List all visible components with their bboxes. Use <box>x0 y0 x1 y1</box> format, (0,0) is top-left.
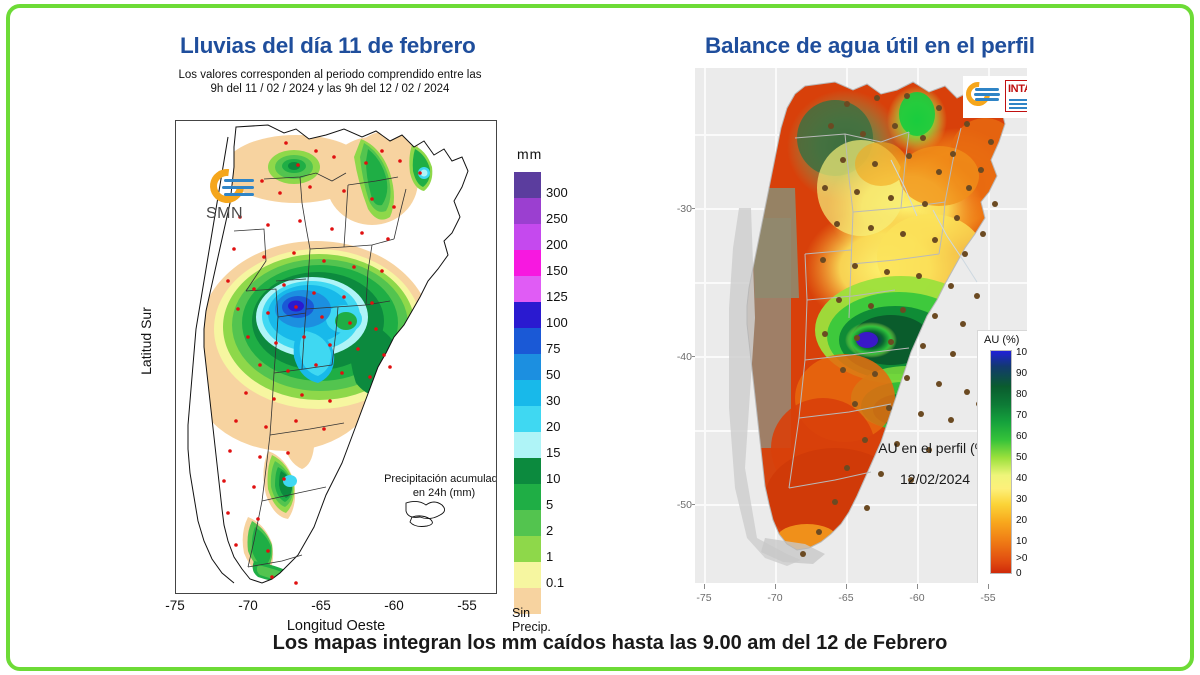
colorbar-tick: 125 <box>546 289 568 304</box>
colorbar-tick: 300 <box>546 185 568 200</box>
left-panel-title: Lluvias del día 11 de febrero <box>180 33 476 59</box>
colorbar-cell <box>514 380 541 406</box>
au-colorbar-tick: 80 <box>1016 389 1027 400</box>
inta-logo: INTA <box>1005 80 1027 112</box>
colorbar-tick: 15 <box>546 445 560 460</box>
au-colorbar-tick: >0 <box>1016 553 1027 564</box>
precip-note-line-2: en 24h (mm) <box>374 487 497 501</box>
right-map-tickmark <box>846 584 847 589</box>
right-map-tickmark <box>775 584 776 589</box>
right-map-ytick: -40 <box>666 351 692 363</box>
au-colorbar-tick: 90 <box>1016 368 1027 379</box>
precipitation-colorbar: mm 300 250 200 <box>510 146 602 616</box>
colorbar-cell <box>514 406 541 432</box>
water-balance-map-canvas: AU en el perfil (%) 12/02/2024 INTA <box>695 68 1027 583</box>
smn-wave-icon <box>224 193 254 196</box>
au-colorbar-tick: 20 <box>1016 515 1027 526</box>
logo-group: INTA FAUBA <box>963 76 1027 118</box>
smn-logo-text: SMN <box>206 205 243 223</box>
inta-line-icon <box>1009 107 1027 109</box>
right-map-xtick: -75 <box>687 592 721 604</box>
smn-logo <box>965 81 1001 113</box>
au-colorbar-tick: 70 <box>1016 410 1027 421</box>
colorbar-cell <box>514 510 541 536</box>
left-map-xtick: -75 <box>155 598 195 613</box>
colorbar-cell <box>514 198 541 224</box>
smn-logo: SMN <box>204 169 274 227</box>
colorbar-cell <box>514 458 541 484</box>
colorbar-cell <box>514 328 541 354</box>
colorbar-tick: 150 <box>546 263 568 278</box>
smn-wave-icon <box>975 88 999 91</box>
colorbar-tick: 10 <box>546 471 560 486</box>
colorbar-tick: 0.1 <box>546 575 564 590</box>
right-map-ytick: -30 <box>666 203 692 215</box>
au-colorbar-tick: 40 <box>1016 473 1027 484</box>
no-precip-label-line-1: Sin <box>512 606 530 620</box>
right-map-xtick: -65 <box>829 592 863 604</box>
right-panel-title: Balance de agua útil en el perfil <box>705 33 1035 59</box>
right-map-xtick: -70 <box>758 592 792 604</box>
au-colorbar-tick: 100 <box>1016 347 1027 358</box>
right-map-ytick: -50 <box>666 499 692 511</box>
colorbar-tick: 200 <box>546 237 568 252</box>
colorbar-cell <box>514 276 541 302</box>
precipitation-map-panel: Los valores corresponden al periodo comp… <box>160 68 590 618</box>
colorbar-cell <box>514 302 541 328</box>
water-balance-map-panel: -30 -40 -50 -75 -70 -65 -60 -55 <box>670 63 1070 623</box>
colorbar-tick: 1 <box>546 549 553 564</box>
colorbar-cell <box>514 536 541 562</box>
colorbar-cell <box>514 250 541 276</box>
subtitle-line-2: 9h del 11 / 02 / 2024 y las 9h del 12 / … <box>160 82 500 96</box>
colorbar-cell <box>514 432 541 458</box>
left-panel-subtitle: Los valores corresponden al periodo comp… <box>160 68 500 96</box>
colorbar-cell <box>514 354 541 380</box>
au-colorbar-tick: 10 <box>1016 536 1027 547</box>
smn-wave-icon <box>224 179 254 182</box>
left-map-y-axis-label: Latitud Sur <box>138 307 154 375</box>
page-frame: Lluvias del día 11 de febrero Balance de… <box>6 4 1194 671</box>
inta-line-icon <box>1009 103 1027 105</box>
au-colorbar: AU (%) 100 90 80 70 60 50 40 30 20 10 >0… <box>977 330 1027 583</box>
subtitle-line-1: Los valores corresponden al periodo comp… <box>160 68 500 82</box>
left-map-xtick: -60 <box>374 598 414 613</box>
au-colorbar-tick: 0 <box>1016 568 1022 579</box>
au-colorbar-tick: 50 <box>1016 452 1027 463</box>
colorbar-unit-label: mm <box>517 146 542 162</box>
au-colorbar-strip <box>990 350 1012 574</box>
precip-note-line-1: Precipitación acumulada <box>374 473 497 487</box>
colorbar-tick: 75 <box>546 341 560 356</box>
au-colorbar-title: AU (%) <box>984 334 1019 346</box>
left-map-xtick: -55 <box>447 598 487 613</box>
colorbar-tick: 250 <box>546 211 568 226</box>
right-map-tickmark <box>988 584 989 589</box>
smn-wave-icon <box>975 98 999 101</box>
colorbar-cell <box>514 484 541 510</box>
colorbar-strip <box>514 172 541 614</box>
colorbar-tick: 5 <box>546 497 553 512</box>
smn-wave-icon <box>222 186 254 189</box>
inta-logo-text: INTA <box>1008 83 1027 95</box>
colorbar-tick: 100 <box>546 315 568 330</box>
colorbar-cell <box>514 562 541 588</box>
inta-line-icon <box>1009 99 1027 101</box>
precipitation-map-canvas: SMN Precipitación acumulada en 24h (mm) <box>175 120 497 594</box>
left-map-xtick: -70 <box>228 598 268 613</box>
right-map-tickmark <box>704 584 705 589</box>
colorbar-cell <box>514 224 541 250</box>
precipitation-annotation: Precipitación acumulada en 24h (mm) <box>374 473 497 500</box>
au-colorbar-tick: 30 <box>1016 494 1027 505</box>
colorbar-tick: 30 <box>546 393 560 408</box>
colorbar-tick: 2 <box>546 523 553 538</box>
smn-wave-icon <box>974 93 1000 96</box>
right-map-tickmark <box>917 584 918 589</box>
right-map-xtick: -60 <box>900 592 934 604</box>
left-map-xtick: -65 <box>301 598 341 613</box>
colorbar-tick: 50 <box>546 367 560 382</box>
right-map-xtick: -55 <box>971 592 1005 604</box>
colorbar-tick: 20 <box>546 419 560 434</box>
bottom-caption: Los mapas integran los mm caídos hasta l… <box>10 632 1200 655</box>
colorbar-cell <box>514 172 541 198</box>
au-colorbar-tick: 60 <box>1016 431 1027 442</box>
